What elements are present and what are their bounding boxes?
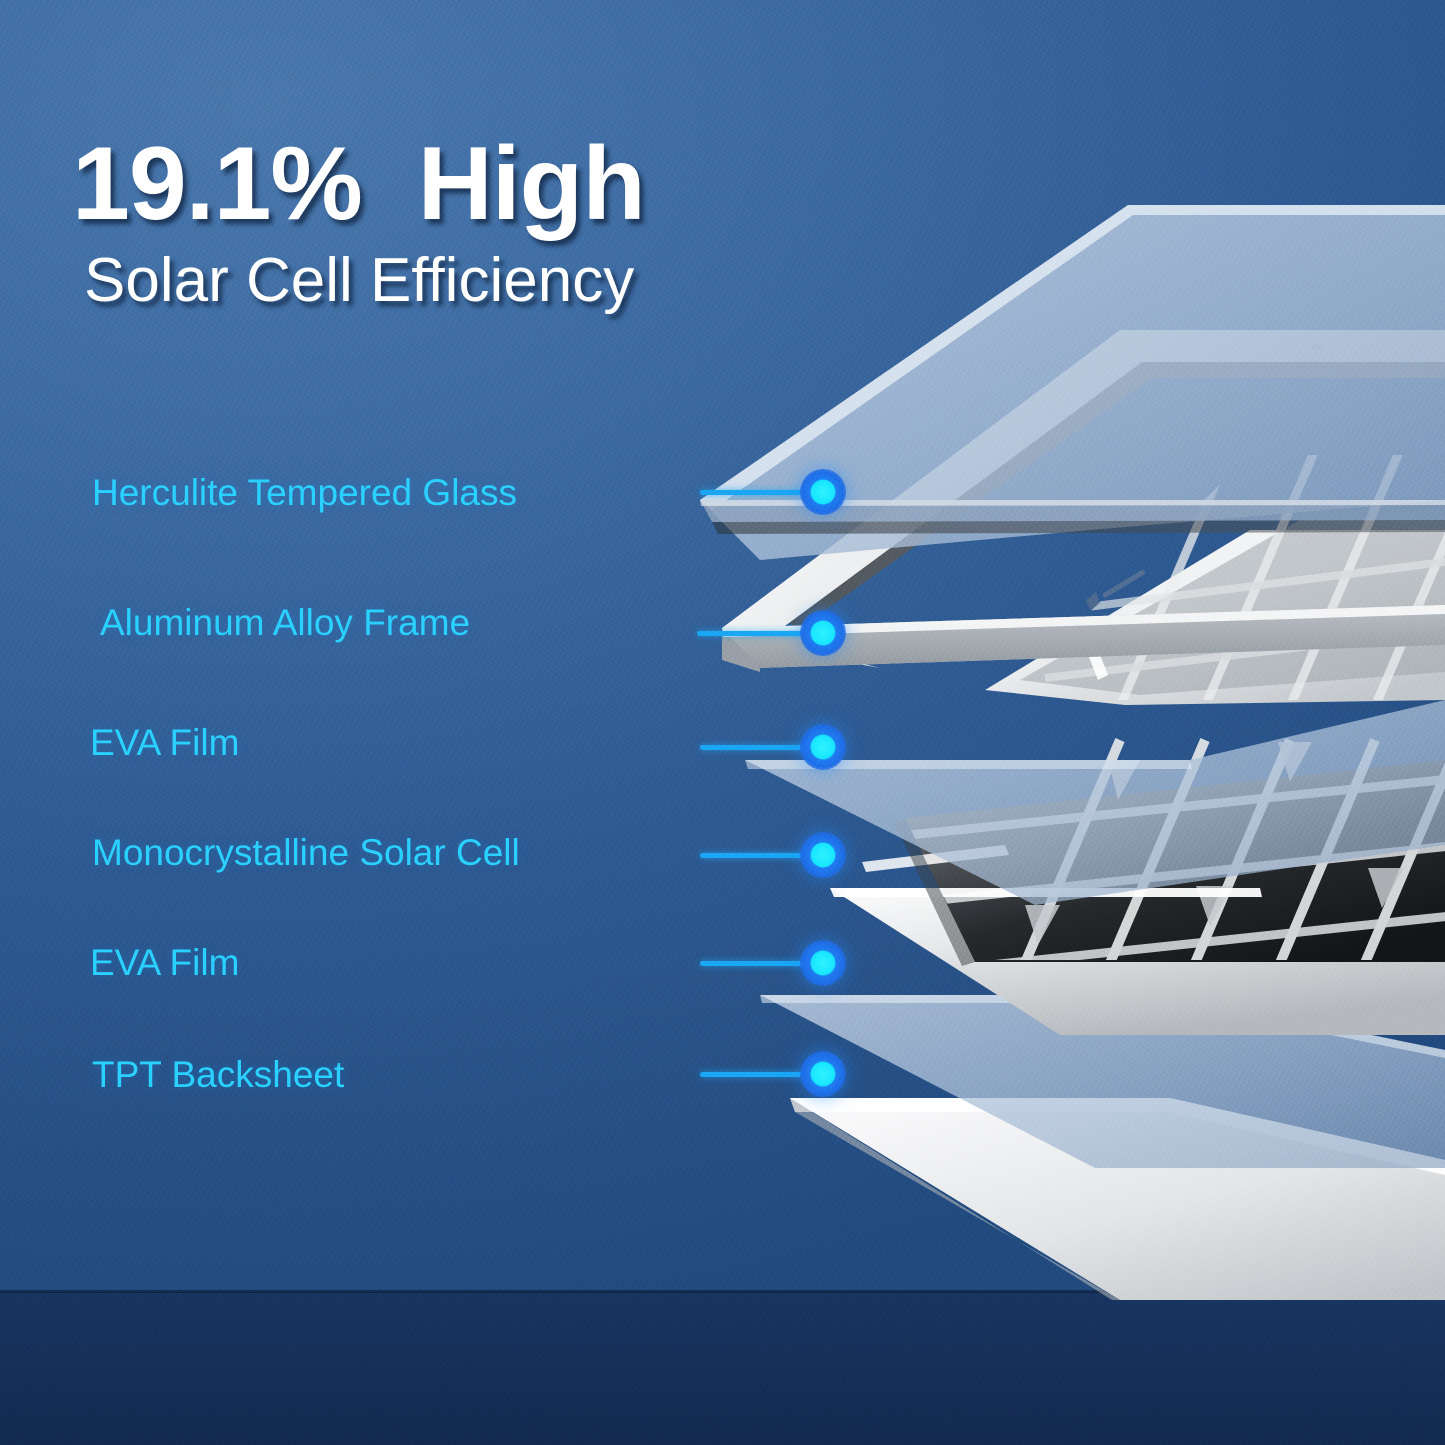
background-texture-overlay [0, 0, 1445, 1445]
product-feature-graphic: 19.1% High Solar Cell Efficiency Herculi… [0, 0, 1445, 1445]
